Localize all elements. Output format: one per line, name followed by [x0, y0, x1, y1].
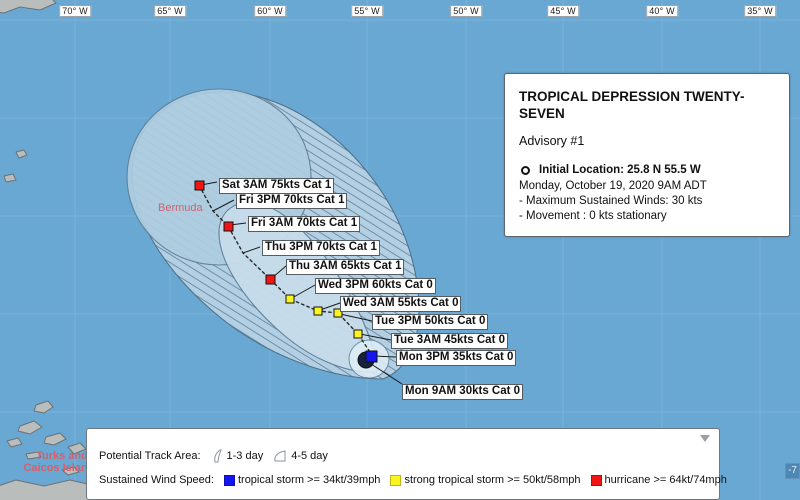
advisory-number: Advisory #1: [519, 134, 775, 149]
track-label-thu-3pm[interactable]: Thu 3PM 70kts Cat 1: [262, 240, 380, 256]
track-label-wed-3am[interactable]: Wed 3AM 55kts Cat 0: [340, 296, 461, 312]
legend-item-tropical-storm: tropical storm >= 34kt/39mph: [224, 474, 380, 487]
marker-tue-3am: [354, 330, 362, 338]
cone-1-3-day-icon: [211, 449, 224, 463]
marker-mon-9am: [366, 351, 377, 362]
marker-wed-3pm: [286, 295, 294, 303]
track-label-wed-3pm[interactable]: Wed 3PM 60kts Cat 0: [315, 278, 436, 294]
marker-wed-3am: [314, 307, 322, 315]
initial-location-row: Initial Location: 25.8 N 55.5 W: [519, 163, 775, 177]
marker-sat-3am: [195, 181, 204, 190]
lon-label-70w: 70° W: [59, 5, 91, 17]
tropical-storm-swatch: [224, 475, 235, 486]
initial-location-text: Initial Location: 25.8 N 55.5 W: [539, 163, 701, 177]
edge-clipped-label: -7: [785, 463, 800, 479]
track-label-tue-3am[interactable]: Tue 3AM 45kts Cat 0: [391, 333, 508, 349]
cone-4-5-day-icon: [273, 449, 288, 463]
lon-label-55w: 55° W: [351, 5, 383, 17]
hurricane-track-map: 70° W 65° W 60° W 55° W 50° W 45° W 40° …: [0, 0, 800, 500]
lon-label-60w: 60° W: [254, 5, 286, 17]
hurricane-swatch: [591, 475, 602, 486]
collapse-legend-icon[interactable]: [700, 435, 710, 442]
advisory-datetime: Monday, October 19, 2020 9AM ADT: [519, 179, 775, 194]
legend-item-strong-tropical-storm: strong tropical storm >= 50kt/58mph: [390, 474, 580, 487]
track-label-fri-3am[interactable]: Fri 3AM 70kts Cat 1: [248, 216, 360, 232]
storm-info-panel: TROPICAL DEPRESSION TWENTY-SEVEN Advisor…: [504, 73, 790, 237]
legend-panel: Potential Track Area: 1-3 day 4-5 day Su…: [86, 428, 720, 500]
legend-item-cone-1-3-day: 1-3 day: [211, 449, 264, 463]
track-label-sat-3am[interactable]: Sat 3AM 75kts Cat 1: [219, 178, 334, 194]
track-label-thu-3am[interactable]: Thu 3AM 65kts Cat 1: [286, 259, 404, 275]
legend-hurricane-text: hurricane >= 64kt/74mph: [605, 474, 727, 487]
track-label-tue-3pm[interactable]: Tue 3PM 50kts Cat 0: [372, 314, 488, 330]
lon-label-65w: 65° W: [154, 5, 186, 17]
legend-item-cone-4-5-day: 4-5 day: [273, 449, 328, 463]
legend-item-hurricane: hurricane >= 64kt/74mph: [591, 474, 727, 487]
legend-row-wind-speed: Sustained Wind Speed: tropical storm >= …: [99, 474, 707, 487]
lon-label-35w: 35° W: [744, 5, 776, 17]
initial-location-icon: [521, 166, 530, 175]
storm-movement: - Movement : 0 kts stationary: [519, 209, 775, 224]
strong-tropical-storm-swatch: [390, 475, 401, 486]
track-label-mon-9am[interactable]: Mon 9AM 30kts Cat 0: [402, 384, 523, 400]
legend-strong-tropical-storm-text: strong tropical storm >= 50kt/58mph: [404, 474, 580, 487]
lon-label-40w: 40° W: [646, 5, 678, 17]
track-label-fri-3pm[interactable]: Fri 3PM 70kts Cat 1: [236, 193, 347, 209]
legend-row-track-area: Potential Track Area: 1-3 day 4-5 day: [99, 449, 707, 463]
legend-cone-4-5-day-text: 4-5 day: [291, 450, 328, 463]
legend-cone-1-3-day-text: 1-3 day: [227, 450, 264, 463]
legend-tropical-storm-text: tropical storm >= 34kt/39mph: [238, 474, 380, 487]
marker-fri-3am: [224, 222, 233, 231]
track-label-mon-3pm[interactable]: Mon 3PM 35kts Cat 0: [396, 350, 516, 366]
lon-label-50w: 50° W: [450, 5, 482, 17]
storm-title: TROPICAL DEPRESSION TWENTY-SEVEN: [519, 88, 775, 122]
lon-label-45w: 45° W: [547, 5, 579, 17]
marker-thu-3am: [266, 275, 275, 284]
legend-wind-speed-label: Sustained Wind Speed:: [99, 474, 214, 487]
legend-track-area-label: Potential Track Area:: [99, 450, 201, 463]
max-sustained-winds: - Maximum Sustained Winds: 30 kts: [519, 194, 775, 209]
